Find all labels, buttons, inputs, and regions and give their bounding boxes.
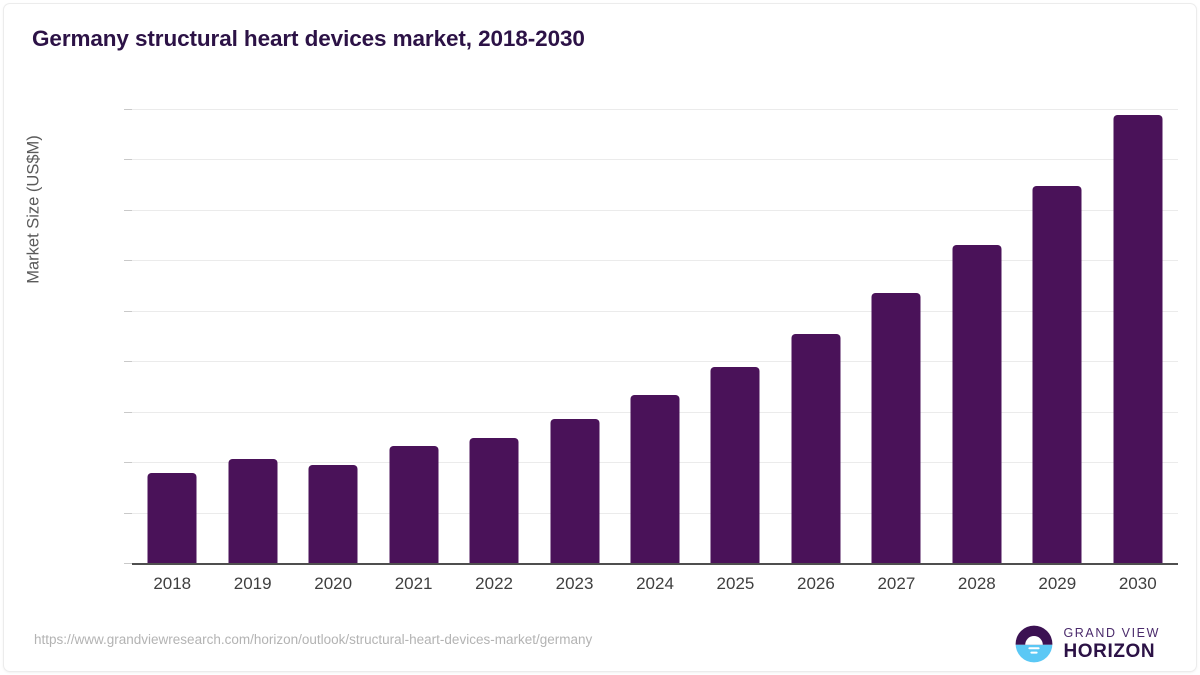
bar-slot [212,109,292,563]
x-tick-label-2023: 2023 [534,574,614,594]
bar-slot [695,109,775,563]
bar-2024[interactable] [630,395,679,563]
bar-series [132,109,1178,563]
chart-card: Germany structural heart devices market,… [4,4,1196,671]
x-tick-label-2018: 2018 [132,574,212,594]
bar-2023[interactable] [550,419,599,563]
bar-slot [1017,109,1097,563]
y-tick-mark [124,260,132,261]
chart-page: Germany structural heart devices market,… [0,0,1200,675]
y-tick-mark [124,210,132,211]
sunrise-circle-icon [1014,624,1054,664]
x-tick-label-2019: 2019 [212,574,292,594]
x-tick-label-2025: 2025 [695,574,775,594]
x-axis-line [132,563,1178,565]
page-title: Germany structural heart devices market,… [32,26,585,52]
y-tick-mark [124,159,132,160]
brand-wordmark: GRAND VIEW HORIZON [1063,627,1160,662]
bar-2025[interactable] [711,367,760,563]
y-tick-mark [124,513,132,514]
bar-slot [776,109,856,563]
bar-2022[interactable] [470,438,519,564]
y-tick-mark [124,109,132,110]
bar-slot [293,109,373,563]
brand-line-1: GRAND VIEW [1063,627,1160,640]
x-tick-label-2022: 2022 [454,574,534,594]
bar-slot [132,109,212,563]
x-tick-label-2027: 2027 [856,574,936,594]
bar-2019[interactable] [228,459,277,563]
bar-slot [534,109,614,563]
bar-2018[interactable] [148,473,197,563]
bar-2028[interactable] [952,245,1001,563]
x-tick-label-2026: 2026 [776,574,856,594]
source-url[interactable]: https://www.grandviewresearch.com/horizo… [34,632,592,647]
bar-slot [615,109,695,563]
y-tick-mark [124,563,132,564]
y-tick-mark [124,361,132,362]
x-tick-label-2028: 2028 [937,574,1017,594]
y-axis-title: Market Size (US$M) [25,0,44,420]
x-tick-label-2029: 2029 [1017,574,1097,594]
x-tick-label-2024: 2024 [615,574,695,594]
y-tick-mark [124,412,132,413]
x-tick-label-2020: 2020 [293,574,373,594]
bar-slot [856,109,936,563]
bar-2027[interactable] [872,293,921,563]
bar-slot [373,109,453,563]
bar-slot [937,109,1017,563]
y-tick-mark [124,311,132,312]
y-tick-mark [124,462,132,463]
brand-line-2: HORIZON [1063,642,1160,661]
x-tick-label-2030: 2030 [1098,574,1178,594]
bar-2030[interactable] [1113,115,1162,563]
bar-2021[interactable] [389,446,438,563]
bar-slot [1098,109,1178,563]
bar-2026[interactable] [791,334,840,563]
brand-logo: GRAND VIEW HORIZON [1014,624,1160,664]
bar-2029[interactable] [1033,186,1082,563]
x-tick-label-2021: 2021 [373,574,453,594]
bar-2020[interactable] [309,465,358,563]
bar-slot [454,109,534,563]
plot-area: 0250500750100012501500175020002250 [132,109,1178,563]
